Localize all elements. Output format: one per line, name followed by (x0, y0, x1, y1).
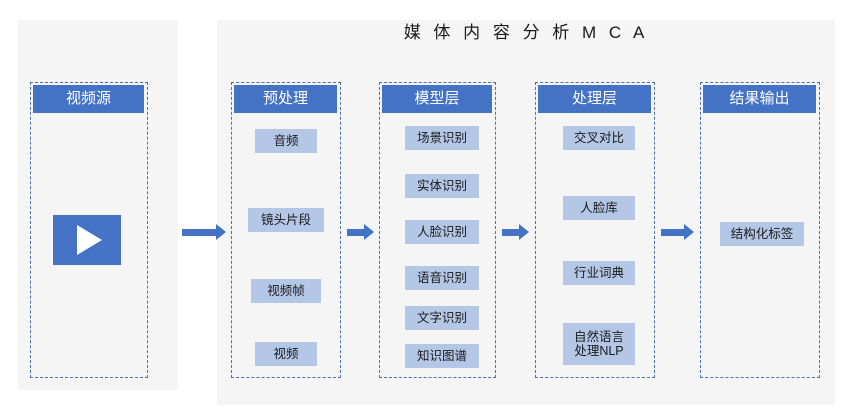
stage-model-layer[interactable]: 模型层 场景识别 实体识别 人脸识别 语音识别 文字识别 知识图谱 (379, 82, 496, 378)
arrow-model-layer-to-processing-layer (502, 222, 529, 242)
item-box[interactable]: 自然语言 处理NLP (563, 323, 635, 365)
item-box[interactable]: 音频 (255, 129, 317, 153)
arrow-video-source-to-preprocessing (182, 222, 226, 242)
arrow-head (364, 224, 374, 240)
arrow-preprocessing-to-model-layer (347, 222, 374, 242)
item-box[interactable]: 文字识别 (405, 306, 479, 330)
stage-header-preprocessing: 预处理 (234, 85, 337, 113)
stage-preprocessing[interactable]: 预处理 音频 镜头片段 视频帧 视频 (231, 82, 341, 378)
arrow-shaft (502, 229, 519, 236)
item-box[interactable]: 视频帧 (251, 279, 321, 303)
stage-header-result-output: 结果输出 (703, 85, 816, 113)
item-box[interactable]: 镜头片段 (248, 208, 324, 232)
arrow-shaft (661, 229, 684, 236)
stage-result-output[interactable]: 结果输出 结构化标签 (700, 82, 820, 378)
play-triangle-glyph (77, 225, 102, 255)
stage-header-processing-layer: 处理层 (538, 85, 651, 113)
diagram-title: 媒 体 内 容 分 析 M C A (217, 18, 835, 43)
item-box[interactable]: 视频 (255, 342, 317, 366)
item-box[interactable]: 交叉对比 (563, 126, 635, 150)
stage-header-video-source: 视频源 (33, 85, 144, 113)
stage-processing-layer[interactable]: 处理层 交叉对比 人脸库 行业词典 自然语言 处理NLP (535, 82, 655, 378)
item-box[interactable]: 场景识别 (405, 126, 479, 150)
arrow-head (519, 224, 529, 240)
stage-video-source[interactable]: 视频源 (30, 82, 148, 378)
item-box[interactable]: 行业词典 (563, 261, 635, 285)
stage-header-model-layer: 模型层 (382, 85, 492, 113)
item-box[interactable]: 人脸识别 (405, 220, 479, 244)
item-box[interactable]: 语音识别 (405, 266, 479, 290)
arrow-processing-layer-to-result-output (661, 222, 694, 242)
item-box[interactable]: 人脸库 (563, 196, 635, 220)
item-box[interactable]: 知识图谱 (405, 344, 479, 368)
item-box[interactable]: 结构化标签 (720, 222, 804, 246)
arrow-head (684, 224, 694, 240)
arrow-shaft (347, 229, 364, 236)
arrow-head (216, 224, 226, 240)
arrow-shaft (182, 229, 216, 236)
item-box[interactable]: 实体识别 (405, 174, 479, 198)
diagram-canvas: 媒 体 内 容 分 析 M C A 视频源 预处理 音频 镜头片段 视频帧 视频… (0, 0, 859, 411)
play-icon[interactable] (53, 215, 121, 265)
